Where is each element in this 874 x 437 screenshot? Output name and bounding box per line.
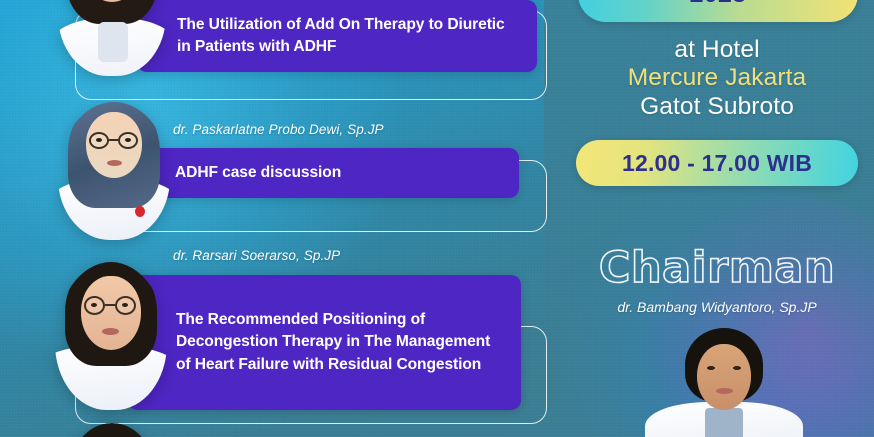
- date-pill: 2023: [578, 0, 858, 22]
- speaker-photo-2: [58, 102, 170, 240]
- session-row-1[interactable]: The Utilization of Add On Therapy to Diu…: [0, 0, 560, 108]
- session-title-2: ADHF case discussion: [137, 162, 357, 184]
- session-card-3[interactable]: The Recommended Positioning of Decongest…: [128, 275, 521, 410]
- event-info-panel: 2023 at Hotel Mercure Jakarta Gatot Subr…: [560, 0, 874, 437]
- session-row-2[interactable]: dr. Paskarlatne Probo Dewi, Sp.JP ADHF c…: [0, 120, 560, 238]
- venue-line-2: Mercure Jakarta: [560, 64, 874, 92]
- session-title-3: The Recommended Positioning of Decongest…: [128, 309, 521, 375]
- chairman-photo: [653, 330, 793, 437]
- session-list: The Utilization of Add On Therapy to Diu…: [0, 0, 560, 437]
- event-poster: The Utilization of Add On Therapy to Diu…: [0, 0, 874, 437]
- session-row-4[interactable]: [0, 415, 560, 437]
- speaker-photo-1: [58, 0, 166, 76]
- speaker-photo-3: [55, 262, 167, 410]
- time-pill-text: 12.00 - 17.00 WIB: [622, 150, 812, 177]
- date-pill-text: 2023: [690, 0, 747, 9]
- session-row-3[interactable]: dr. Rarsari Soerarso, Sp.JP The Recommen…: [0, 240, 560, 420]
- venue-block: at Hotel Mercure Jakarta Gatot Subroto: [560, 36, 874, 121]
- speaker-name-2: dr. Paskarlatne Probo Dewi, Sp.JP: [173, 122, 384, 137]
- speaker-photo-4: [62, 423, 162, 437]
- venue-line-1: at Hotel: [560, 36, 874, 64]
- chairman-heading: Chairman: [560, 243, 874, 293]
- session-card-2[interactable]: ADHF case discussion: [137, 148, 519, 198]
- speaker-name-3: dr. Rarsari Soerarso, Sp.JP: [173, 248, 340, 263]
- session-card-1[interactable]: The Utilization of Add On Therapy to Diu…: [137, 0, 537, 72]
- chairman-name: dr. Bambang Widyantoro, Sp.JP: [560, 299, 874, 315]
- session-title-1: The Utilization of Add On Therapy to Diu…: [137, 14, 537, 58]
- time-pill: 12.00 - 17.00 WIB: [576, 140, 858, 186]
- venue-line-3: Gatot Subroto: [560, 93, 874, 121]
